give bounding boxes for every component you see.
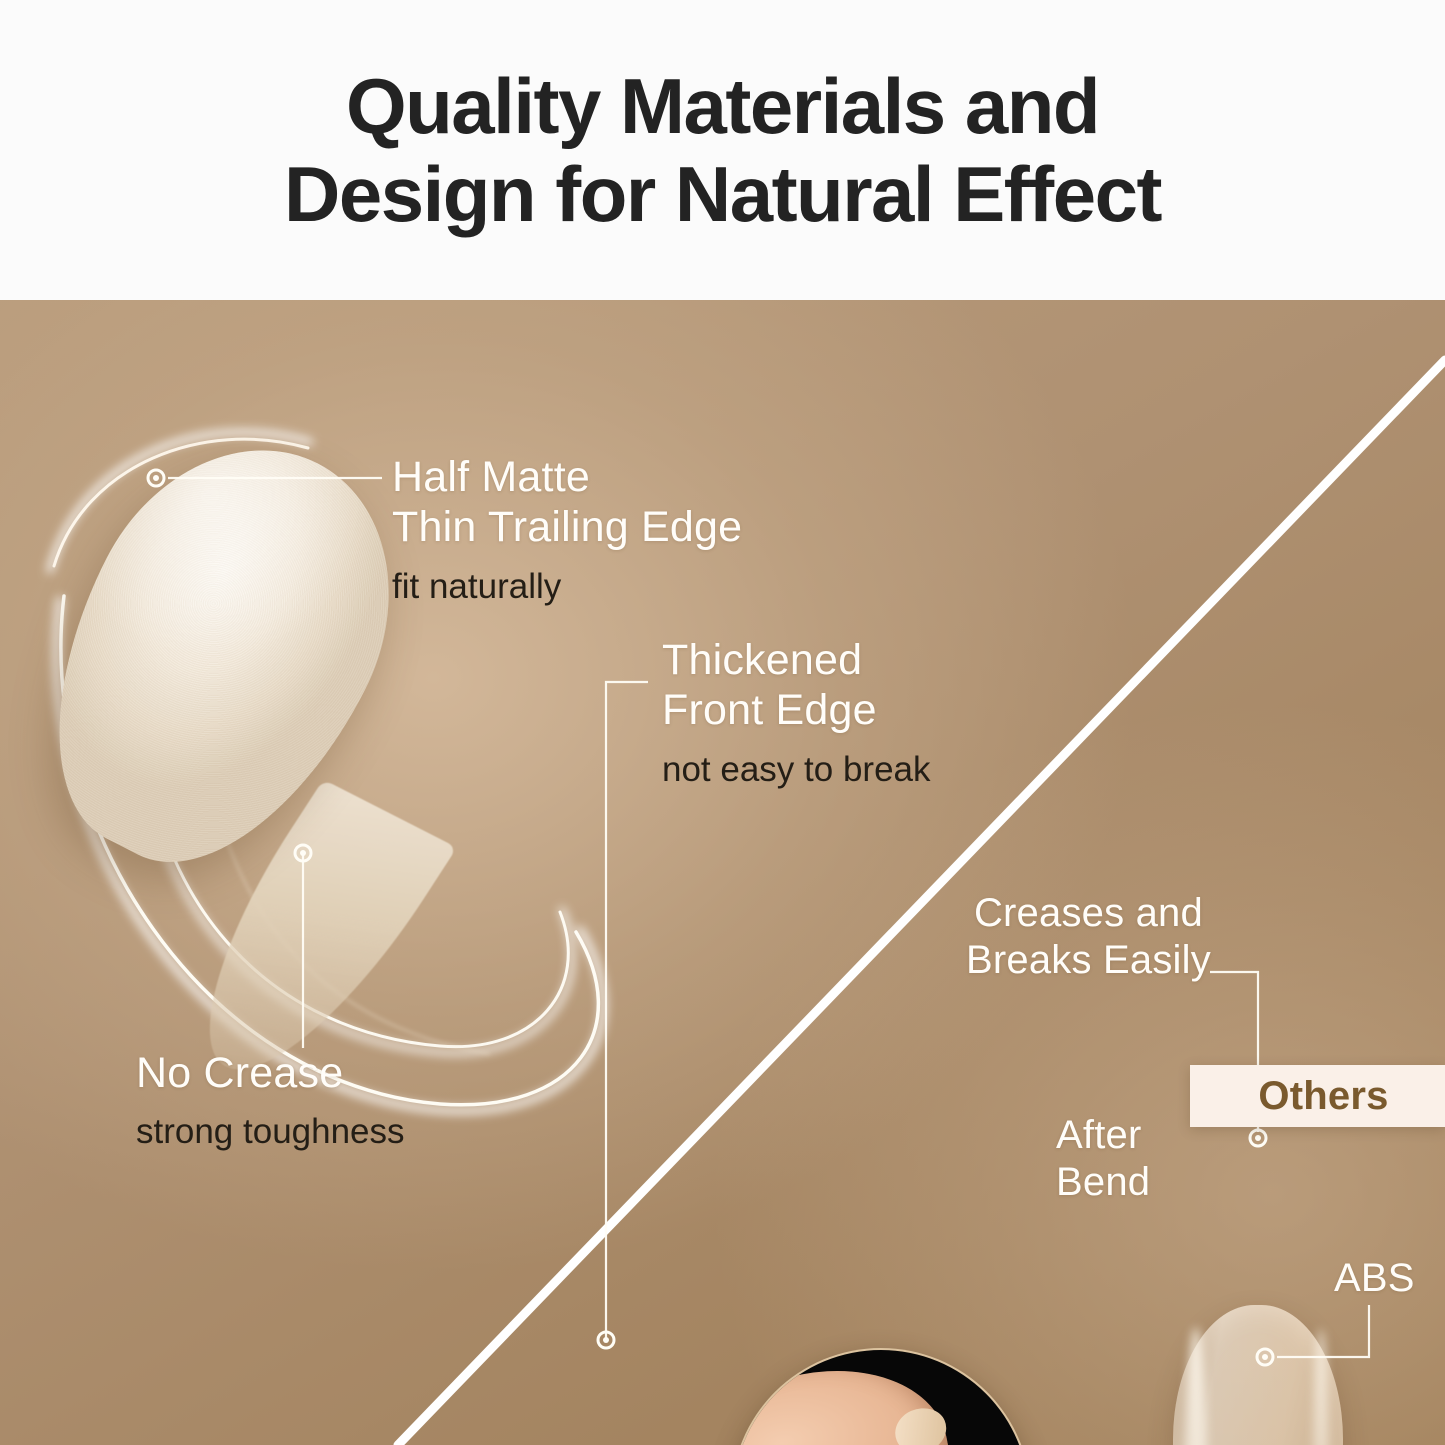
competitor-badge-others: Others — [1190, 1065, 1445, 1127]
callout-after-bend: After Bend — [1056, 1112, 1150, 1206]
page-header: Quality Materials and Design for Natural… — [0, 0, 1445, 300]
callout-half-matte-sub: fit naturally — [392, 565, 742, 609]
callout-thickened-title: Thickened Front Edge — [662, 635, 931, 736]
callout-no-crease: No Crease strong toughness — [136, 1048, 405, 1154]
comparison-panel: Half Matte Thin Trailing Edge fit natura… — [0, 300, 1445, 1445]
callout-creases-breaks: Creases and Breaks Easily — [966, 890, 1211, 984]
callout-abs-title: ABS — [1334, 1255, 1415, 1302]
callout-after-bend-title: After Bend — [1056, 1112, 1150, 1206]
callout-no-crease-sub: strong toughness — [136, 1110, 405, 1154]
callout-abs: ABS — [1334, 1255, 1415, 1302]
callout-thickened-front-edge: Thickened Front Edge not easy to break — [662, 635, 931, 791]
callout-thickened-sub: not easy to break — [662, 748, 931, 792]
competitor-badge-label: Others — [1258, 1074, 1388, 1119]
page-title-line-2: Design for Natural Effect — [284, 152, 1161, 236]
callout-half-matte-title: Half Matte Thin Trailing Edge — [392, 452, 742, 553]
infographic-page: Quality Materials and Design for Natural… — [0, 0, 1445, 1445]
page-title-line-1: Quality Materials and — [346, 64, 1099, 148]
callout-half-matte: Half Matte Thin Trailing Edge fit natura… — [392, 452, 742, 608]
callout-creases-title: Creases and Breaks Easily — [966, 890, 1211, 984]
callout-no-crease-title: No Crease — [136, 1048, 405, 1098]
